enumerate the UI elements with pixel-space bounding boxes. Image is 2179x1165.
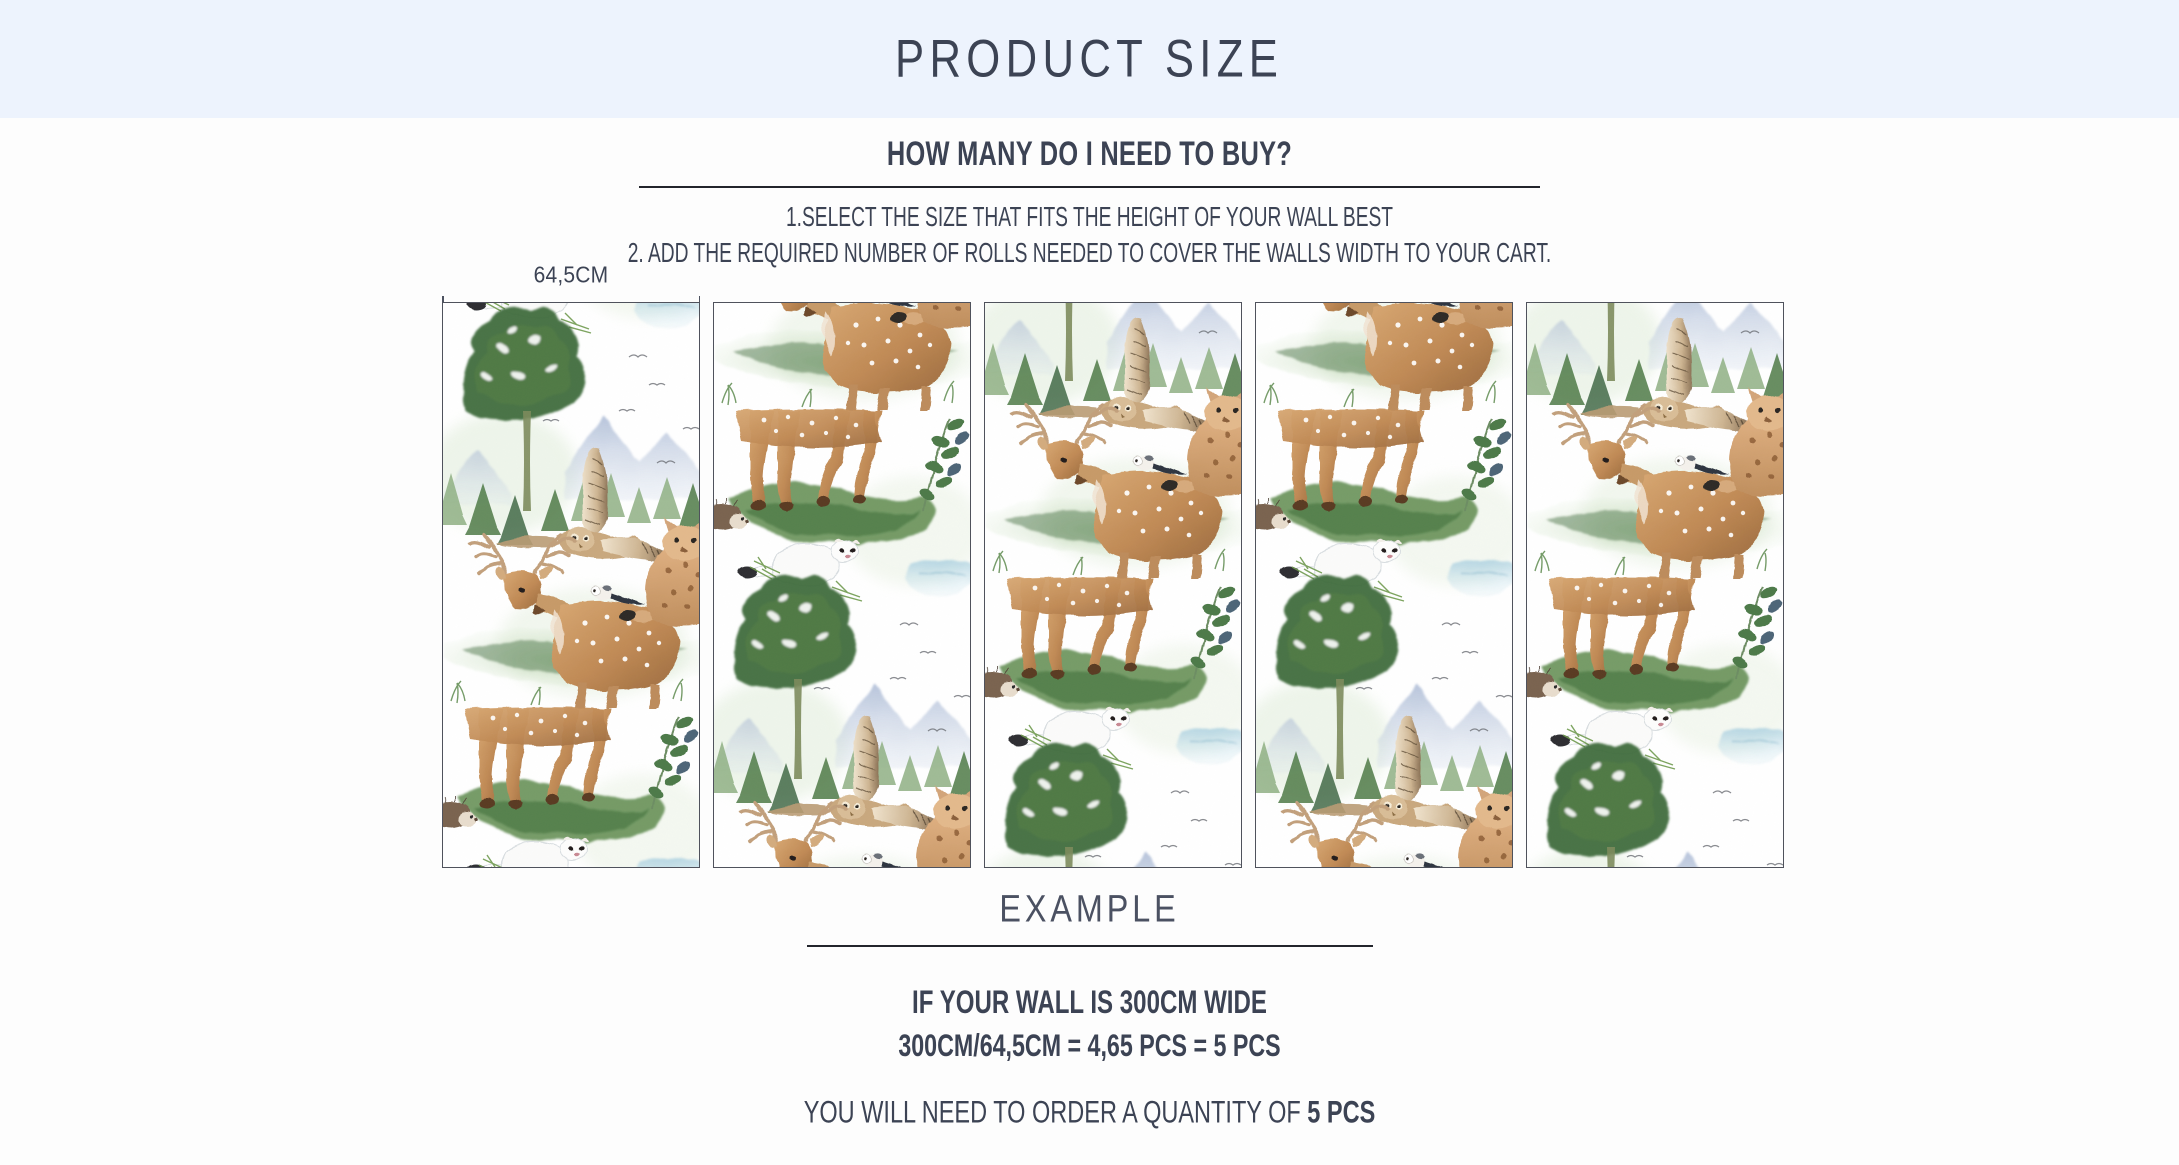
wallpaper-artwork — [443, 302, 700, 868]
wallpaper-roll-panel[interactable] — [1255, 302, 1513, 868]
wallpaper-artwork — [985, 302, 1242, 868]
example-divider — [807, 945, 1373, 947]
instructions-heading: HOW MANY DO I NEED TO BUY? — [196, 134, 1983, 174]
wallpaper-roll-panel[interactable] — [442, 302, 700, 868]
wallpaper-roll-panel[interactable] — [984, 302, 1242, 868]
product-size-page: PRODUCT SIZE HOW MANY DO I NEED TO BUY? … — [0, 0, 2179, 1165]
heading-divider — [639, 186, 1540, 188]
example-wall-width: IF YOUR WALL IS 300CM WIDE — [185, 985, 1994, 1022]
example-title: EXAMPLE — [22, 887, 2157, 931]
wallpaper-artwork — [1527, 302, 1784, 868]
wallpaper-roll-panel[interactable] — [713, 302, 971, 868]
page-title: PRODUCT SIZE — [895, 28, 1283, 89]
wallpaper-panel-strip — [442, 302, 1784, 868]
instruction-step-1: 1.SELECT THE SIZE THAT FITS THE HEIGHT O… — [218, 202, 1961, 234]
order-quantity-value: 5 PCS — [1307, 1094, 1375, 1129]
wallpaper-artwork — [714, 302, 971, 868]
instructions-block: HOW MANY DO I NEED TO BUY? 1.SELECT THE … — [0, 118, 2179, 268]
header-band: PRODUCT SIZE — [0, 0, 2179, 118]
wallpaper-artwork — [1256, 302, 1513, 868]
example-order-quantity: YOU WILL NEED TO ORDER A QUANTITY OF 5 P… — [174, 1094, 2004, 1130]
example-calculation: 300CM/64,5CM = 4,65 PCS = 5 PCS — [185, 1028, 1994, 1064]
dimension-label: 64,5CM — [442, 263, 700, 289]
order-prefix-text: YOU WILL NEED TO ORDER A QUANTITY OF — [804, 1094, 1308, 1129]
example-block: EXAMPLE IF YOUR WALL IS 300CM WIDE 300CM… — [0, 890, 2179, 1128]
wallpaper-roll-panel[interactable] — [1526, 302, 1784, 868]
